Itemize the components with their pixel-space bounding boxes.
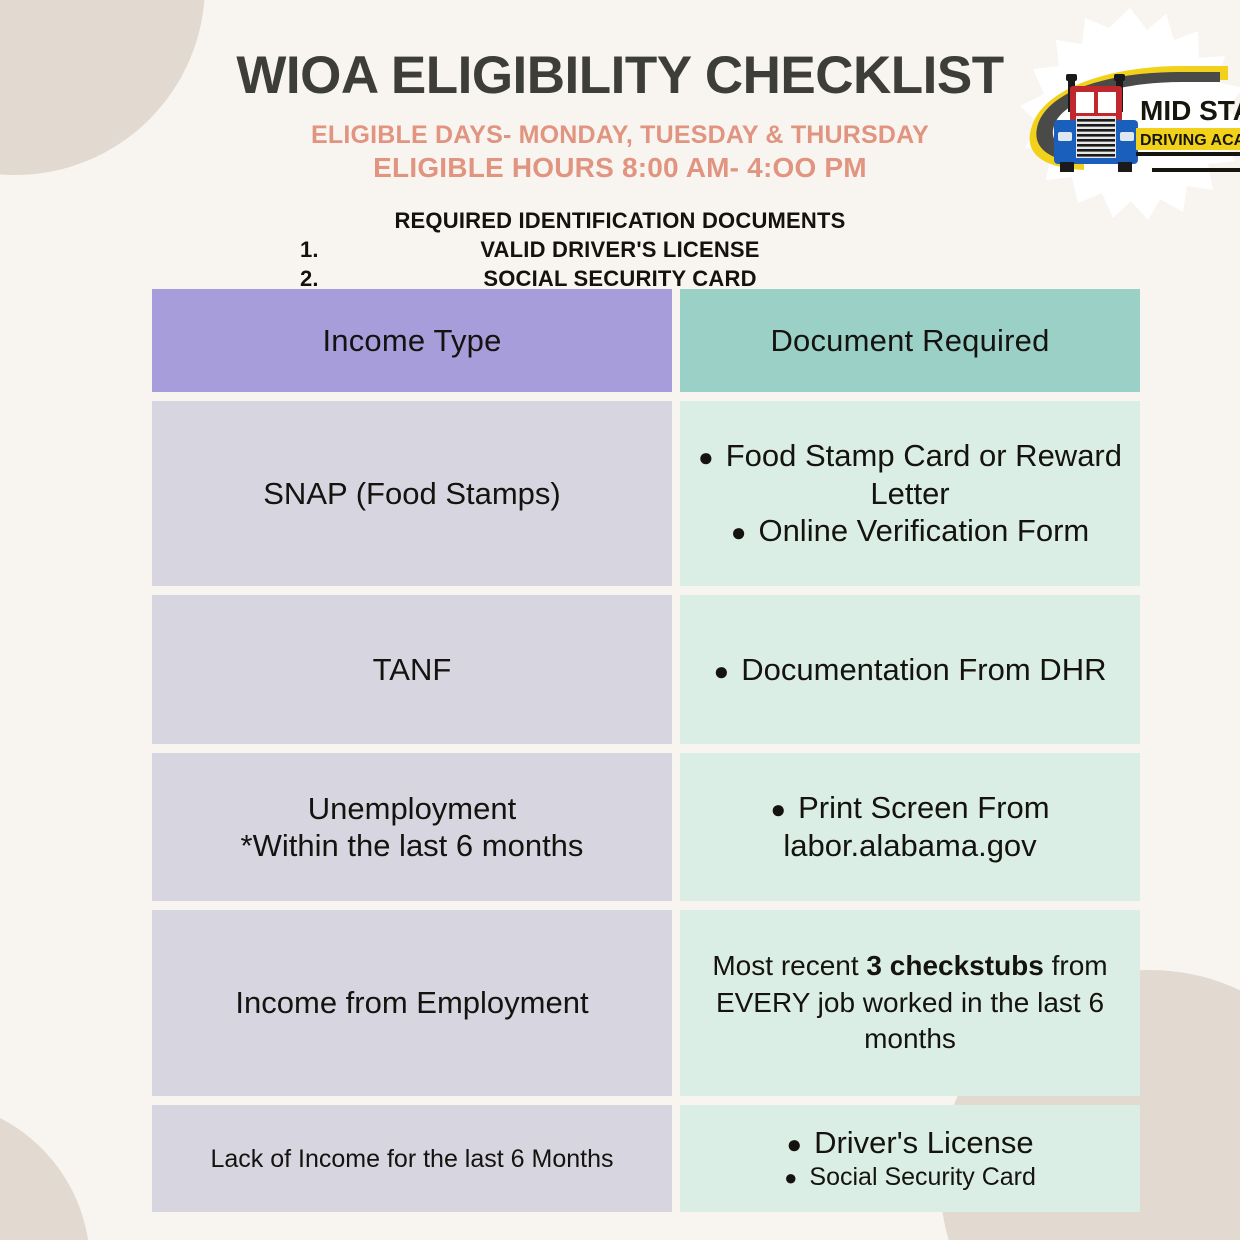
income-type-cell-snap: SNAP (Food Stamps): [152, 401, 672, 586]
table-row: SNAP (Food Stamps) ●Food Stamp Card or R…: [152, 401, 1140, 586]
income-type-label-employment: Income from Employment: [235, 984, 588, 1021]
document-label: Social Security Card: [809, 1163, 1035, 1191]
decorative-circle-bottom-left: [0, 1100, 90, 1240]
list-item: ●Food Stamp Card or Reward Letter: [690, 437, 1130, 513]
required-document-number-2: 2.: [300, 264, 319, 293]
bullet-icon: ●: [784, 1165, 797, 1192]
required-document-item-2: 2. SOCIAL SECURITY CARD: [0, 264, 1240, 293]
logo-brand-line1: MID STATE: [1140, 95, 1240, 126]
income-type-label-tanf: TANF: [373, 651, 452, 688]
required-document-item-1: 1. VALID DRIVER'S LICENSE: [0, 235, 1240, 264]
required-document-label-1: VALID DRIVER'S LICENSE: [480, 237, 759, 262]
document-paragraph-employment: Most recent 3 checkstubs from EVERY job …: [690, 948, 1130, 1059]
table-row: Unemployment *Within the last 6 months ●…: [152, 753, 1140, 901]
list-item: ●Driver's License: [690, 1124, 1130, 1162]
table-header-row: Income Type Document Required: [152, 289, 1140, 392]
list-item: ●Online Verification Form: [690, 512, 1130, 550]
column-header-income-type: Income Type: [152, 289, 672, 392]
income-type-cell-tanf: TANF: [152, 595, 672, 744]
column-header-document-required-label: Document Required: [770, 322, 1049, 359]
required-document-label-2: SOCIAL SECURITY CARD: [483, 266, 756, 291]
income-type-cell-employment: Income from Employment: [152, 910, 672, 1096]
document-list-unemployment: ●Print Screen From labor.alabama.gov: [690, 789, 1130, 865]
paragraph-before: Most recent: [712, 950, 866, 981]
bullet-icon: ●: [731, 517, 747, 549]
bullet-icon: ●: [714, 656, 730, 688]
document-label: Online Verification Form: [758, 513, 1089, 548]
document-label: Print Screen From labor.alabama.gov: [783, 790, 1049, 863]
document-list-snap: ●Food Stamp Card or Reward Letter ●Onlin…: [690, 437, 1130, 550]
income-type-cell-lack-of-income: Lack of Income for the last 6 Months: [152, 1105, 672, 1212]
list-item: ●Documentation From DHR: [690, 651, 1130, 689]
document-cell-lack-of-income: ●Driver's License ●Social Security Card: [680, 1105, 1140, 1212]
table-row: Lack of Income for the last 6 Months ●Dr…: [152, 1105, 1140, 1212]
column-header-document-required: Document Required: [680, 289, 1140, 392]
document-label: Documentation From DHR: [741, 652, 1106, 687]
list-item: ●Social Security Card: [690, 1162, 1130, 1193]
document-cell-snap: ●Food Stamp Card or Reward Letter ●Onlin…: [680, 401, 1140, 586]
document-cell-unemployment: ●Print Screen From labor.alabama.gov: [680, 753, 1140, 901]
paragraph-emphasis: 3 checkstubs: [866, 950, 1043, 981]
table-row: TANF ●Documentation From DHR: [152, 595, 1140, 744]
bullet-icon: ●: [698, 442, 714, 474]
list-item: ●Print Screen From labor.alabama.gov: [690, 789, 1130, 865]
column-header-income-type-label: Income Type: [322, 322, 501, 359]
document-cell-employment: Most recent 3 checkstubs from EVERY job …: [680, 910, 1140, 1096]
company-logo: MID STATE DRIVING ACADEMY: [1014, 4, 1240, 220]
income-type-label-lack-of-income: Lack of Income for the last 6 Months: [211, 1144, 614, 1174]
document-list-lack-of-income: ●Driver's License ●Social Security Card: [690, 1124, 1130, 1192]
logo-brand-line2: DRIVING ACADEMY: [1140, 132, 1240, 149]
poster-canvas: WIOA ELIGIBILITY CHECKLIST ELIGIBLE DAYS…: [0, 0, 1240, 1240]
bullet-icon: ●: [786, 1129, 802, 1161]
document-cell-tanf: ●Documentation From DHR: [680, 595, 1140, 744]
income-type-label-snap: SNAP (Food Stamps): [263, 475, 560, 512]
income-type-label-unemployment: Unemployment *Within the last 6 months: [241, 790, 584, 864]
table-row: Income from Employment Most recent 3 che…: [152, 910, 1140, 1096]
required-document-number-1: 1.: [300, 235, 319, 264]
eligibility-table: Income Type Document Required SNAP (Food…: [152, 289, 1140, 1221]
document-label: Driver's License: [814, 1125, 1034, 1160]
bullet-icon: ●: [770, 794, 786, 826]
document-list-tanf: ●Documentation From DHR: [690, 651, 1130, 689]
income-type-cell-unemployment: Unemployment *Within the last 6 months: [152, 753, 672, 901]
document-label: Food Stamp Card or Reward Letter: [726, 438, 1122, 511]
